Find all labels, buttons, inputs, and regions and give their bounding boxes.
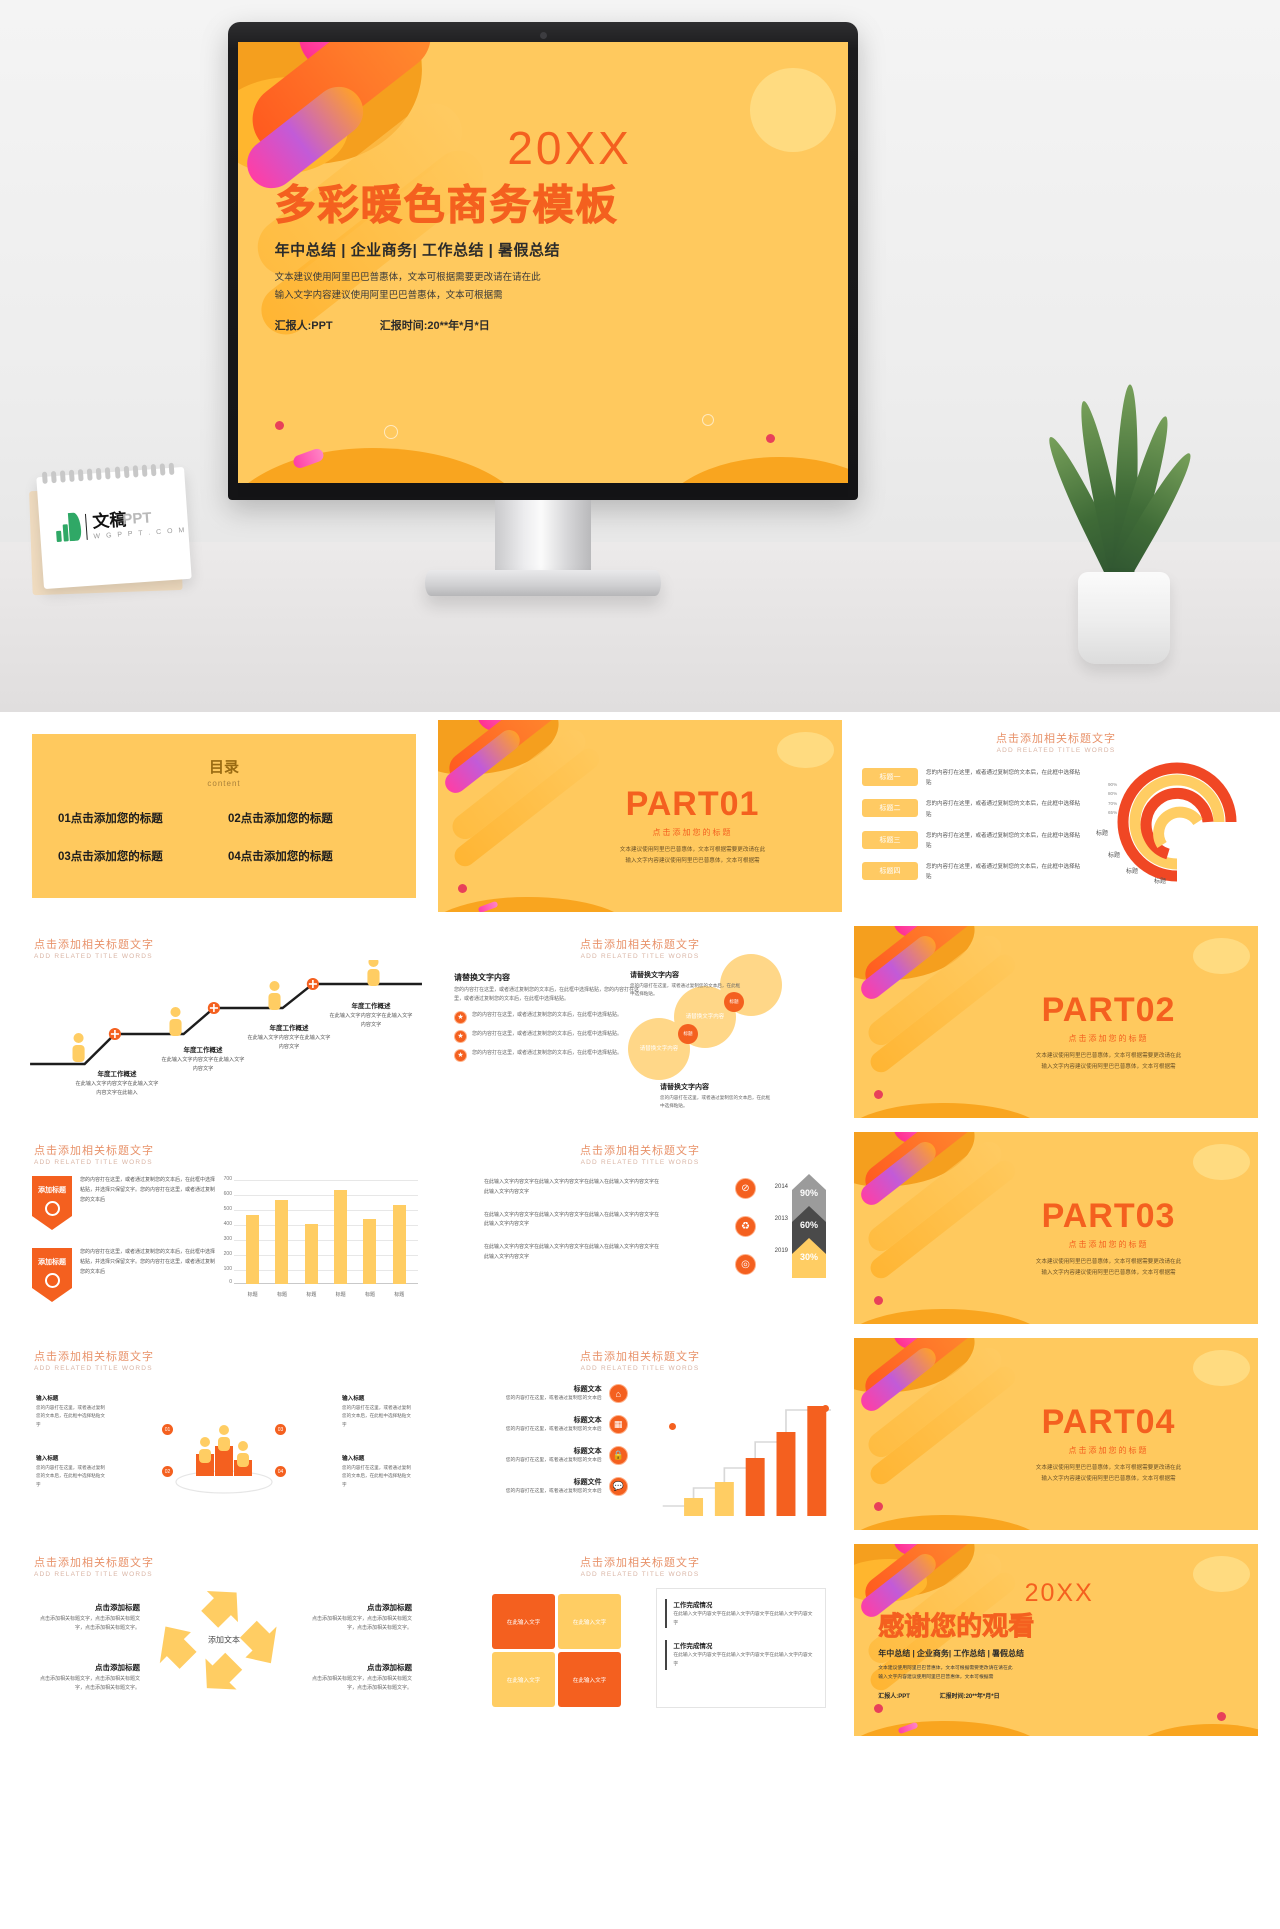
list-item[interactable]: 标题一 您的内容打在这里，或者通过复制您的文本后，在此框中选择粘贴: [862, 768, 1080, 788]
cycle-note-title: 点击添加标题: [308, 1662, 412, 1673]
staircase-desc: 您的内容打在这里，或者通过复制您的文本后: [506, 1457, 602, 1466]
part03-subtitle: 点击添加您的标题: [983, 1239, 1233, 1250]
y-tick: 200: [216, 1251, 232, 1257]
part01-subtitle: 点击添加您的标题: [567, 827, 817, 838]
bar-chart: 700 600 500 400 300 200 100 0: [216, 1176, 418, 1300]
decor-dot: [766, 434, 775, 443]
bar: [393, 1205, 406, 1284]
star-icon: ★: [454, 1030, 467, 1043]
bar: [334, 1190, 347, 1284]
x-tick: 标题: [394, 1291, 404, 1298]
cycle-note-title: 点击添加标题: [308, 1602, 412, 1613]
part-slide-art: PART04 点击添加您的标题 文本建议使用阿里巴巴普惠体，文本可根据需要更改请…: [854, 1338, 1258, 1530]
ring-icon: 添加标题: [32, 1248, 72, 1302]
staircase-desc: 您的内容打在这里，或者通过复制您的文本后: [506, 1426, 602, 1435]
staircase-title: 标题文本: [506, 1415, 602, 1425]
slide-part02[interactable]: PART02 点击添加您的标题 文本建议使用阿里巴巴普惠体，文本可根据需要更改请…: [854, 926, 1258, 1118]
list-item[interactable]: ★ 您的内容打在这里，或者通过复制您的文本后，在此框中选择粘贴。: [454, 1011, 640, 1024]
podium-badge: 03: [275, 1424, 286, 1435]
list-item[interactable]: 在此输入文字内容文字在此输入文字内容文字在此输入在此输入文字内容文字在此输入文字…: [484, 1211, 662, 1231]
slide-bar-chart[interactable]: 点击添加相关标题文字 ADD RELATED TITLE WORDS 添加标题 …: [22, 1132, 426, 1324]
staircase-title: 标题文件: [506, 1477, 602, 1487]
radial-tag: 标题四: [862, 862, 918, 880]
slide-header-en: ADD RELATED TITLE WORDS: [34, 1571, 154, 1578]
decor-blob: [750, 68, 835, 152]
slide-header-en: ADD RELATED TITLE WORDS: [438, 1571, 842, 1578]
decor-dot: [275, 421, 284, 430]
decor-dot: [874, 1704, 883, 1713]
slide-header-cn: 点击添加相关标题文字: [854, 730, 1258, 746]
staircase-marker: [822, 1405, 829, 1412]
lock-icon: 🔒: [609, 1446, 628, 1465]
staircase-marker: [669, 1423, 676, 1430]
bubble-label: 请替换文字内容: [677, 1012, 733, 1020]
catalog-item[interactable]: 02点击添加您的标题: [228, 810, 390, 826]
slide-header-en: ADD RELATED TITLE WORDS: [34, 1365, 154, 1372]
decor-blob: [1193, 938, 1250, 974]
hero-title: 多彩暖色商务模板: [275, 171, 751, 231]
people-note-title: 输入标题: [36, 1454, 106, 1462]
decor-blob: [1193, 1350, 1250, 1386]
slide-header: 点击添加相关标题文字 ADD RELATED TITLE WORDS: [34, 1554, 154, 1578]
radial-legend-list: 标题一 您的内容打在这里，或者通过复制您的文本后，在此框中选择粘贴 标题二 您的…: [862, 768, 1080, 893]
year-label: 2014: [775, 1184, 788, 1190]
decor-dot: [874, 1502, 883, 1511]
staircase-title: 标题文本: [506, 1446, 602, 1456]
slide-radial-chart[interactable]: 点击添加相关标题文字 ADD RELATED TITLE WORDS 标题一 您…: [854, 720, 1258, 912]
podium-svg: [168, 1390, 280, 1500]
chat-icon: 💬: [609, 1477, 628, 1496]
bubbles-left-column: 请替换文字内容 您的内容打在这里，或者通过复制您的文本后，在此框中选择粘贴，您的…: [454, 972, 640, 1062]
slide-header-en: ADD RELATED TITLE WORDS: [854, 747, 1258, 754]
hero-meta: 汇报人:PPT 汇报时间:20**年*月*日: [275, 317, 751, 333]
people-note-title: 输入标题: [342, 1454, 412, 1462]
part02-text: PART02 点击添加您的标题 文本建议使用阿里巴巴普惠体，文本可根据需要更改请…: [983, 991, 1233, 1072]
slide-header-cn: 点击添加相关标题文字: [34, 936, 154, 952]
list-item[interactable]: 标题文本 您的内容打在这里，或者通过复制您的文本后 ⌂: [458, 1384, 628, 1404]
part04-title: PART04: [983, 1403, 1233, 1442]
part01-body-line2: 输入文字内容建议使用阿里巴巴普惠体，文本可根据需: [567, 856, 817, 867]
arrow-value: 30%: [792, 1252, 826, 1262]
catalog-item[interactable]: 01点击添加您的标题: [58, 810, 220, 826]
puzzle-quadrant[interactable]: 在此输入文字: [558, 1594, 621, 1649]
y-tick: 300: [216, 1236, 232, 1242]
step-note-title: 年度工作概述: [328, 1000, 414, 1010]
monitor-stand-neck: [495, 500, 591, 574]
slide-catalog[interactable]: 目录 content 01点击添加您的标题 02点击添加您的标题 03点击添加您…: [22, 720, 426, 912]
podium-badge: 01: [162, 1424, 173, 1435]
list-item[interactable]: 标题三 您的内容打在这里，或者通过复制您的文本后，在此框中选择粘贴: [862, 831, 1080, 851]
cycle-note-text: 点击添加相关标题文字，点击添加相关标题文字，点击添加相关标题文字。: [308, 1675, 412, 1693]
decor-blob: [777, 732, 834, 768]
y-tick: 500: [216, 1206, 232, 1212]
decor-blob: [1193, 1556, 1250, 1592]
x-tick: 标题: [365, 1291, 375, 1298]
slide-header: 点击添加相关标题文字 ADD RELATED TITLE WORDS: [438, 1348, 842, 1372]
slide-header: 点击添加相关标题文字 ADD RELATED TITLE WORDS: [438, 1142, 842, 1166]
slide-puzzle[interactable]: 点击添加相关标题文字 ADD RELATED TITLE WORDS 在此输入文…: [438, 1544, 842, 1736]
bubbles-list-text: 您的内容打在这里，或者通过复制您的文本后，在此框中选择粘贴。: [472, 1011, 622, 1020]
part-slide-art: PART01 点击添加您的标题 文本建议使用阿里巴巴普惠体，文本可根据需要更改请…: [438, 720, 842, 912]
thanks-body: 文本建议使用阿里巴巴普惠体，文本可根据需要更改请在请在此 输入文字内容建议使用阿…: [878, 1664, 1201, 1683]
puzzle-panel: 工作完成情况 在此输入文字内容文字在此输入文字内容文字在此输入文字内容文字 工作…: [656, 1588, 826, 1708]
decor-ring: [702, 414, 714, 426]
slide-header-en: ADD RELATED TITLE WORDS: [34, 1159, 154, 1166]
radial-text: 您的内容打在这里，或者通过复制您的文本后，在此框中选择粘贴: [926, 768, 1080, 788]
catalog-subtitle: content: [32, 779, 416, 788]
list-item[interactable]: 在此输入文字内容文字在此输入文字内容文字在此输入在此输入文字内容文字在此输入文字…: [484, 1243, 662, 1263]
logo-divider: [85, 514, 88, 540]
leaf-bars-icon: [53, 512, 81, 544]
slide-header-cn: 点击添加相关标题文字: [34, 1142, 154, 1158]
catalog-item[interactable]: 04点击添加您的标题: [228, 848, 390, 864]
catalog-panel: 目录 content 01点击添加您的标题 02点击添加您的标题 03点击添加您…: [32, 734, 416, 898]
bubbles-right-text: 您的内容打在这里，或者通过复制您的文本后，在此框中选择粘贴。: [630, 982, 743, 999]
webcam-icon: [540, 32, 547, 39]
slide-people-podium[interactable]: 点击添加相关标题文字 ADD RELATED TITLE WORDS 输入标题 …: [22, 1338, 426, 1530]
y-tick: 100: [216, 1266, 232, 1272]
ring-glyph: [45, 1273, 60, 1288]
decor-dot: [874, 1296, 883, 1305]
puzzle-quadrant[interactable]: 在此输入文字: [492, 1594, 555, 1649]
part03-body-line1: 文本建议使用阿里巴巴普惠体，文本可根据需要更改请在此: [983, 1257, 1233, 1268]
cycle-note-title: 点击添加标题: [36, 1662, 140, 1673]
decor-blob: [653, 457, 848, 483]
part04-body-line1: 文本建议使用阿里巴巴普惠体，文本可根据需要更改请在此: [983, 1463, 1233, 1474]
slide-part04[interactable]: PART04 点击添加您的标题 文本建议使用阿里巴巴普惠体，文本可根据需要更改请…: [854, 1338, 1258, 1530]
slide-thank-you[interactable]: 20XX 感谢您的观看 年中总结 | 企业商务| 工作总结 | 暑假总结 文本建…: [854, 1544, 1258, 1736]
part02-body-line2: 输入文字内容建议使用阿里巴巴普惠体，文本可根据需: [983, 1062, 1233, 1073]
decor-blob: [1129, 1724, 1258, 1736]
list-item[interactable]: 标题二 您的内容打在这里，或者通过复制您的文本后，在此框中选择粘贴: [862, 799, 1080, 819]
radial-tag: 标题一: [862, 768, 918, 786]
star-icon: ★: [454, 1011, 467, 1024]
bar: [275, 1200, 288, 1284]
monitor-chin: [238, 483, 848, 497]
target-icon: ◎: [735, 1254, 756, 1275]
y-tick: 700: [216, 1176, 232, 1182]
catalog-item[interactable]: 03点击添加您的标题: [58, 848, 220, 864]
radial-tag: 标题二: [862, 799, 918, 817]
podium-graphic: 01 02 03 04: [168, 1390, 280, 1500]
slide-header-en: ADD RELATED TITLE WORDS: [438, 1365, 842, 1372]
arrow-text-list: 在此输入文字内容文字在此输入文字内容文字在此输入在此输入文字内容文字在此输入文字…: [484, 1178, 662, 1276]
slide-header-en: ADD RELATED TITLE WORDS: [438, 953, 842, 960]
step-note-title: 年度工作概述: [246, 1022, 332, 1032]
catalog-items: 01点击添加您的标题 02点击添加您的标题 03点击添加您的标题 04点击添加您…: [58, 810, 390, 864]
bubbles-diagram: 请替换文字内容 请替换文字内容 标题 标题 请替换文字内容 您的内容打在这里，或…: [634, 966, 836, 1106]
slide-header-cn: 点击添加相关标题文字: [438, 1554, 842, 1570]
x-tick: 标题: [306, 1291, 316, 1298]
y-tick: 400: [216, 1221, 232, 1227]
hero-body-line2: 输入文字内容建议使用阿里巴巴普惠体，文本可根据需: [275, 287, 751, 305]
people-note-text: 您的内容打在这里，或者通过复制您的文本后，在此框中选择粘贴文字: [342, 1464, 412, 1489]
podium-badge: 04: [275, 1466, 286, 1477]
slide-header-cn: 点击添加相关标题文字: [34, 1554, 154, 1570]
list-item[interactable]: 添加标题 您的内容打在这里，或者通过复制您的文本后，在此框中选择粘贴，并选择只保…: [32, 1248, 218, 1302]
bar-chart-x-labels: 标题 标题 标题 标题 标题 标题: [238, 1291, 414, 1298]
plant-decoration: [1052, 344, 1222, 664]
radial-chart: 90% 80% 70% 65% 标题 标题 标题 标题: [1102, 754, 1252, 894]
thanks-slide-art: 20XX 感谢您的观看 年中总结 | 企业商务| 工作总结 | 暑假总结 文本建…: [854, 1544, 1258, 1736]
thanks-text: 20XX 感谢您的观看 年中总结 | 企业商务| 工作总结 | 暑假总结 文本建…: [878, 1579, 1201, 1700]
podium-badge: 02: [162, 1466, 173, 1477]
step-note-text: 在此输入文字内容文字在此输入文字内容文字: [160, 1056, 246, 1074]
part03-text: PART03 点击添加您的标题 文本建议使用阿里巴巴普惠体，文本可根据需要更改请…: [983, 1197, 1233, 1278]
step-note: 年度工作概述 在此输入文字内容文字在此输入文字内容文字: [246, 1022, 332, 1052]
catalog-title: 目录: [32, 756, 416, 777]
staircase-chart: [658, 1396, 836, 1516]
slide-header: 点击添加相关标题文字 ADD RELATED TITLE WORDS: [34, 1142, 154, 1166]
part01-title: PART01: [567, 785, 817, 824]
hero-slide: 20XX 多彩暖色商务模板 年中总结 | 企业商务| 工作总结 | 暑假总结 文…: [238, 42, 848, 483]
part04-text: PART04 点击添加您的标题 文本建议使用阿里巴巴普惠体，文本可根据需要更改请…: [983, 1403, 1233, 1484]
radial-text: 您的内容打在这里，或者通过复制您的文本后，在此框中选择粘贴: [926, 831, 1080, 851]
thanks-year: 20XX: [917, 1579, 1201, 1608]
cycle-note: 点击添加标题 点击添加相关标题文字，点击添加相关标题文字，点击添加相关标题文字。: [308, 1662, 412, 1693]
panel-bar: [665, 1599, 667, 1628]
people-note-title: 输入标题: [36, 1394, 106, 1402]
badge-text: 您的内容打在这里，或者通过复制您的文本后，在此框中选择粘贴，并选择只保留文字。您…: [80, 1176, 218, 1205]
people-note: 输入标题 您的内容打在这里，或者通过复制您的文本后，在此框中选择粘贴文字: [342, 1454, 412, 1489]
staircase-text: 标题文本 您的内容打在这里，或者通过复制您的文本后: [506, 1415, 602, 1435]
people-note: 输入标题 您的内容打在这里，或者通过复制您的文本后，在此框中选择粘贴文字: [36, 1394, 106, 1429]
cycle-note: 点击添加标题 点击添加相关标题文字，点击添加相关标题文字，点击添加相关标题文字。: [36, 1602, 140, 1633]
cycle-note-text: 点击添加相关标题文字，点击添加相关标题文字，点击添加相关标题文字。: [36, 1615, 140, 1633]
logo-wordmark: 文稿 PPT W G P P T . C O M: [92, 507, 187, 540]
list-item[interactable]: 工作完成情况 在此输入文字内容文字在此输入文字内容文字在此输入文字内容文字: [665, 1599, 817, 1628]
cycle-note: 点击添加标题 点击添加相关标题文字，点击添加相关标题文字，点击添加相关标题文字。: [308, 1602, 412, 1633]
radial-text: 您的内容打在这里，或者通过复制您的文本后，在此框中选择粘贴: [926, 799, 1080, 819]
list-item[interactable]: ★ 您的内容打在这里，或者通过复制您的文本后，在此框中选择粘贴。: [454, 1030, 640, 1043]
list-item[interactable]: 添加标题 您的内容打在这里，或者通过复制您的文本后，在此框中选择粘贴，并选择只保…: [32, 1176, 218, 1230]
bubbles-right-title: 请替换文字内容: [630, 970, 743, 980]
home-icon: ⌂: [609, 1384, 628, 1403]
part01-text: PART01 点击添加您的标题 文本建议使用阿里巴巴普惠体，文本可根据需要更改请…: [567, 785, 817, 866]
decor-blob: [238, 448, 531, 483]
step-note: 年度工作概述 在此输入文字内容文字在此输入文字内容文字在此输入: [74, 1068, 160, 1098]
monitor: 20XX 多彩暖色商务模板 年中总结 | 企业商务| 工作总结 | 暑假总结 文…: [228, 22, 858, 502]
radial-pct: 65%: [1108, 808, 1117, 817]
y-tick: 0: [216, 1279, 232, 1285]
bar: [246, 1215, 259, 1284]
people-note-text: 您的内容打在这里，或者通过复制您的文本后，在此框中选择粘贴文字: [342, 1404, 412, 1429]
radial-text: 您的内容打在这里，或者通过复制您的文本后，在此框中选择粘贴: [926, 862, 1080, 882]
step-note-text: 在此输入文字内容文字在此输入文字内容文字在此输入: [74, 1080, 160, 1098]
bubbles-right-title: 请替换文字内容: [660, 1082, 773, 1092]
cycle-note-title: 点击添加标题: [36, 1602, 140, 1613]
radial-arc-label: 标题: [1126, 866, 1138, 875]
thanks-subtitle: 年中总结 | 企业商务| 工作总结 | 暑假总结: [878, 1648, 1201, 1659]
bar-chart-bars: [238, 1180, 414, 1284]
star-icon: ★: [454, 1049, 467, 1062]
staircase-desc: 您的内容打在这里，或者通过复制您的文本后: [506, 1395, 602, 1404]
radial-arc-label: 标题: [1154, 876, 1166, 885]
list-item[interactable]: 标题文本 您的内容打在这里，或者通过复制您的文本后 🔒: [458, 1446, 628, 1466]
staircase-text: 标题文本 您的内容打在这里，或者通过复制您的文本后: [506, 1446, 602, 1466]
part02-title: PART02: [983, 991, 1233, 1030]
part02-body-line1: 文本建议使用阿里巴巴普惠体，文本可根据需要更改请在此: [983, 1051, 1233, 1062]
notepad-logo-card: 文稿 PPT W G P P T . C O M: [36, 467, 191, 589]
people-note-text: 您的内容打在这里，或者通过复制您的文本后，在此框中选择粘贴文字: [36, 1404, 106, 1429]
staircase-list: 标题文本 您的内容打在这里，或者通过复制您的文本后 ⌂ 标题文本 您的内容打在这…: [458, 1384, 628, 1507]
people-note-text: 您的内容打在这里，或者通过复制您的文本后，在此框中选择粘贴文字: [36, 1464, 106, 1489]
cycle-note: 点击添加标题 点击添加相关标题文字，点击添加相关标题文字，点击添加相关标题文字。: [36, 1662, 140, 1693]
bubble-dot: 标题: [678, 1024, 698, 1044]
bubbles-list-text: 您的内容打在这里，或者通过复制您的文本后，在此框中选择粘贴。: [472, 1049, 622, 1058]
list-item[interactable]: ★ 您的内容打在这里，或者通过复制您的文本后，在此框中选择粘贴。: [454, 1049, 640, 1062]
part04-subtitle: 点击添加您的标题: [983, 1445, 1233, 1456]
slide-header: 点击添加相关标题文字 ADD RELATED TITLE WORDS: [438, 936, 842, 960]
cycle-center-label: 添加文本: [208, 1635, 240, 1646]
step-note: 年度工作概述 在此输入文字内容文字在此输入文字内容文字: [328, 1000, 414, 1030]
puzzle-quadrant[interactable]: 在此输入文字: [558, 1652, 621, 1707]
decor-blob: [854, 1103, 1048, 1118]
bar-chart-notes: 添加标题 您的内容打在这里，或者通过复制您的文本后，在此框中选择粘贴，并选择只保…: [32, 1176, 218, 1320]
decor-blob: [854, 1309, 1048, 1324]
thanks-reporter: 汇报人:PPT: [878, 1694, 910, 1700]
thanks-title: 感谢您的观看: [878, 1606, 1201, 1643]
step-note: 年度工作概述 在此输入文字内容文字在此输入文字内容文字: [160, 1044, 246, 1074]
bar: [363, 1219, 376, 1284]
radial-pct: 80%: [1108, 789, 1117, 798]
radial-arc-label: 标题: [1096, 828, 1108, 837]
thanks-body-line2: 输入文字内容建议使用阿里巴巴普惠体，文本可根据需: [878, 1673, 1201, 1683]
pie-icon: 添加标题: [32, 1176, 72, 1230]
people-note: 输入标题 您的内容打在这里，或者通过复制您的文本后，在此框中选择粘贴文字: [36, 1454, 106, 1489]
pie-glyph: [45, 1201, 60, 1216]
decor-ring: [384, 425, 398, 439]
year-label: 2013: [775, 1216, 788, 1222]
cycle-note-text: 点击添加相关标题文字，点击添加相关标题文字，点击添加相关标题文字。: [36, 1675, 140, 1693]
bar: [305, 1224, 318, 1284]
slide-step-chart[interactable]: 点击添加相关标题文字 ADD RELATED TITLE WORDS: [22, 926, 426, 1118]
thanks-report-time: 汇报时间:20**年*月*日: [940, 1694, 1000, 1700]
bubbles-list-text: 您的内容打在这里，或者通过复制您的文本后，在此框中选择粘贴。: [472, 1030, 622, 1039]
list-item[interactable]: 工作完成情况 在此输入文字内容文字在此输入文字内容文字在此输入文字内容文字: [665, 1640, 817, 1669]
decor-blob: [854, 1721, 1048, 1736]
cycle-note-text: 点击添加相关标题文字，点击添加相关标题文字，点击添加相关标题文字。: [308, 1615, 412, 1633]
panel-title: 工作完成情况: [673, 1599, 817, 1609]
puzzle-quadrant[interactable]: 在此输入文字: [492, 1652, 555, 1707]
decor-blob: [438, 897, 632, 912]
badge-text: 您的内容打在这里，或者通过复制您的文本后，在此框中选择粘贴，并选择只保留文字。您…: [80, 1248, 218, 1277]
panel-text: 在此输入文字内容文字在此输入文字内容文字在此输入文字内容文字: [673, 1652, 817, 1669]
hero-reporter: 汇报人:PPT: [275, 320, 333, 332]
slide-bubbles[interactable]: 点击添加相关标题文字 ADD RELATED TITLE WORDS 请替换文字…: [438, 926, 842, 1118]
slide-header-en: ADD RELATED TITLE WORDS: [34, 953, 154, 960]
hero-slide-text: 20XX 多彩暖色商务模板 年中总结 | 企业商务| 工作总结 | 暑假总结 文…: [275, 121, 751, 333]
staircase-desc: 您的内容打在这里，或者通过复制您的文本后: [506, 1488, 602, 1497]
panel-text: 在此输入文字内容文字在此输入文字内容文字在此输入文字内容文字: [673, 1611, 817, 1628]
panel-bar: [665, 1640, 667, 1669]
hero-body: 文本建议使用阿里巴巴普惠体，文本可根据需要更改请在请在此 输入文字内容建议使用阿…: [275, 269, 751, 305]
decor-dot: [874, 1090, 883, 1099]
bubble-label: 请替换文字内容: [631, 1044, 687, 1052]
step-note-title: 年度工作概述: [160, 1044, 246, 1054]
part02-subtitle: 点击添加您的标题: [983, 1033, 1233, 1044]
recycle-icon: ♻: [735, 1216, 756, 1237]
radial-arc-label: 标题: [1108, 850, 1120, 859]
part03-body: 文本建议使用阿里巴巴普惠体，文本可根据需要更改请在此 输入文字内容建议使用阿里巴…: [983, 1257, 1233, 1278]
thanks-meta: 汇报人:PPT 汇报时间:20**年*月*日: [878, 1691, 1201, 1700]
badge-label: 添加标题: [38, 1185, 66, 1195]
radial-percent-labels: 90% 80% 70% 65%: [1108, 780, 1117, 818]
slide-arrow-chart[interactable]: 点击添加相关标题文字 ADD RELATED TITLE WORDS 在此输入文…: [438, 1132, 842, 1324]
slide-header-en: ADD RELATED TITLE WORDS: [438, 1159, 842, 1166]
logo-ppt-text: PPT: [122, 509, 152, 528]
slide-header-cn: 点击添加相关标题文字: [438, 936, 842, 952]
slide-header-cn: 点击添加相关标题文字: [34, 1348, 154, 1364]
badge-label: 添加标题: [38, 1257, 66, 1267]
hero-subtitle: 年中总结 | 企业商务| 工作总结 | 暑假总结: [275, 239, 751, 260]
y-tick: 600: [216, 1191, 232, 1197]
part-slide-art: PART03 点击添加您的标题 文本建议使用阿里巴巴普惠体，文本可根据需要更改请…: [854, 1132, 1258, 1324]
hero-body-line1: 文本建议使用阿里巴巴普惠体，文本可根据需要更改请在请在此: [275, 269, 751, 287]
slide-header: 点击添加相关标题文字 ADD RELATED TITLE WORDS: [34, 936, 154, 960]
list-item[interactable]: 标题四 您的内容打在这里，或者通过复制您的文本后，在此框中选择粘贴: [862, 862, 1080, 882]
chart-icon: ▦: [609, 1415, 628, 1434]
puzzle-graphic: 在此输入文字 在此输入文字 在此输入文字 在此输入文字: [492, 1594, 622, 1710]
staircase-text: 标题文本 您的内容打在这里，或者通过复制您的文本后: [506, 1384, 602, 1404]
year-label: 2019: [775, 1248, 788, 1254]
arrow-year-labels: 2014 2013 2019: [775, 1184, 788, 1280]
bubbles-right-note: 请替换文字内容 您的内容打在这里，或者通过复制您的文本后，在此框中选择粘贴。: [660, 1082, 773, 1111]
slide-part03[interactable]: PART03 点击添加您的标题 文本建议使用阿里巴巴普惠体，文本可根据需要更改请…: [854, 1132, 1258, 1324]
monitor-screen: 20XX 多彩暖色商务模板 年中总结 | 企业商务| 工作总结 | 暑假总结 文…: [238, 42, 848, 483]
part-slide-art: PART02 点击添加您的标题 文本建议使用阿里巴巴普惠体，文本可根据需要更改请…: [854, 926, 1258, 1118]
x-tick: 标题: [277, 1291, 287, 1298]
slide-header: 点击添加相关标题文字 ADD RELATED TITLE WORDS: [438, 1554, 842, 1578]
decor-blob: [854, 1515, 1048, 1530]
radial-pct: 70%: [1108, 799, 1117, 808]
cycle-diagram: 添加文本: [159, 1580, 289, 1700]
x-tick: 标题: [336, 1291, 346, 1298]
slide-header: 点击添加相关标题文字 ADD RELATED TITLE WORDS: [854, 730, 1258, 754]
step-note-title: 年度工作概述: [74, 1068, 160, 1078]
list-item[interactable]: 在此输入文字内容文字在此输入文字内容文字在此输入在此输入文字内容文字在此输入文字…: [484, 1178, 662, 1198]
slide-header-cn: 点击添加相关标题文字: [438, 1142, 842, 1158]
part03-body-line2: 输入文字内容建议使用阿里巴巴普惠体，文本可根据需: [983, 1268, 1233, 1279]
hero-year: 20XX: [389, 121, 751, 175]
decor-blob: [1193, 1144, 1250, 1180]
bubbles-right-note: 请替换文字内容 您的内容打在这里，或者通过复制您的文本后，在此框中选择粘贴。: [630, 970, 743, 999]
slide-thumbnail-grid: 目录 content 01点击添加您的标题 02点击添加您的标题 03点击添加您…: [0, 712, 1280, 1756]
arrow-icon-column: ⊘ ♻ ◎: [735, 1178, 756, 1292]
part01-body-line1: 文本建议使用阿里巴巴普惠体，文本可根据需要更改请在此: [567, 845, 817, 856]
x-tick: 标题: [248, 1291, 258, 1298]
slide-staircase[interactable]: 点击添加相关标题文字 ADD RELATED TITLE WORDS 标题文本 …: [438, 1338, 842, 1530]
people-note: 输入标题 您的内容打在这里，或者通过复制您的文本后，在此框中选择粘贴文字: [342, 1394, 412, 1429]
radial-tag: 标题三: [862, 831, 918, 849]
slide-cycle[interactable]: 点击添加相关标题文字 ADD RELATED TITLE WORDS 添加文本 …: [22, 1544, 426, 1736]
slide-part01[interactable]: PART01 点击添加您的标题 文本建议使用阿里巴巴普惠体，文本可根据需要更改请…: [438, 720, 842, 912]
radial-pct: 90%: [1108, 780, 1117, 789]
list-item[interactable]: 标题文件 您的内容打在这里，或者通过复制您的文本后 💬: [458, 1477, 628, 1497]
step-note-text: 在此输入文字内容文字在此输入文字内容文字: [246, 1034, 332, 1052]
staircase-svg: [658, 1396, 836, 1516]
part04-body: 文本建议使用阿里巴巴普惠体，文本可根据需要更改请在此 输入文字内容建议使用阿里巴…: [983, 1463, 1233, 1484]
part02-body: 文本建议使用阿里巴巴普惠体，文本可根据需要更改请在此 输入文字内容建议使用阿里巴…: [983, 1051, 1233, 1072]
stacked-arrow-chart: 90% 60% 30%: [792, 1174, 826, 1278]
hero-photo: 文稿 PPT W G P P T . C O M: [0, 0, 1280, 712]
slide-header: 点击添加相关标题文字 ADD RELATED TITLE WORDS: [34, 1348, 154, 1372]
step-note-text: 在此输入文字内容文字在此输入文字内容文字: [328, 1012, 414, 1030]
people-note-title: 输入标题: [342, 1394, 412, 1402]
list-item[interactable]: 标题文本 您的内容打在这里，或者通过复制您的文本后 ▦: [458, 1415, 628, 1435]
arrow-value: 90%: [792, 1188, 826, 1198]
part04-body-line2: 输入文字内容建议使用阿里巴巴普惠体，文本可根据需: [983, 1474, 1233, 1485]
